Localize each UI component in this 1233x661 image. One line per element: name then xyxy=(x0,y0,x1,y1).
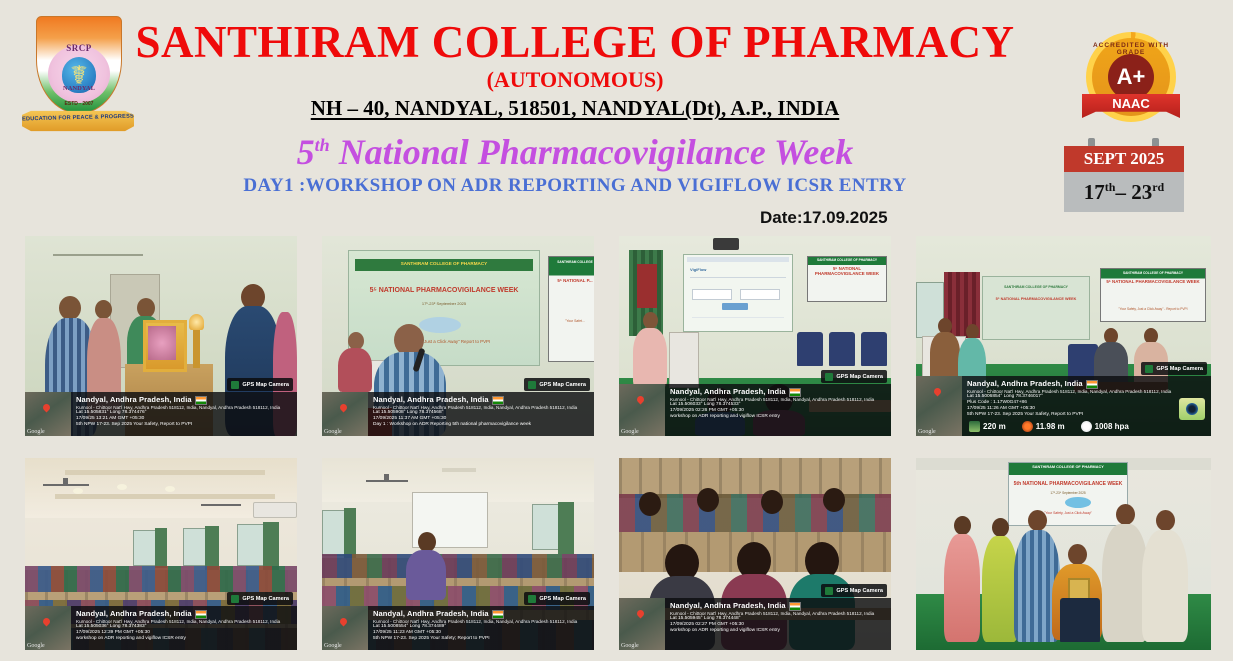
gps-place: Nandyal, Andhra Pradesh, India xyxy=(373,609,590,619)
india-flag-icon xyxy=(195,610,207,619)
photo-tile-lamp-lighting[interactable]: GPS Map Camera Nandyal, Andhra Pradesh, … xyxy=(25,236,297,436)
gps-address: Kurnool - Chittoor Nat'l Hwy, Andhra Pra… xyxy=(373,405,590,411)
autonomous-label: (AUTONOMOUS) xyxy=(135,66,1015,94)
gps-camera-icon xyxy=(825,373,833,381)
depth-icon xyxy=(1022,421,1033,432)
gps-map-thumbnail xyxy=(322,606,368,650)
metric-pressure: 1008 hpa xyxy=(1081,421,1129,432)
gps-place: Nandyal, Andhra Pradesh, India xyxy=(967,379,1207,389)
gps-map-thumbnail xyxy=(322,392,368,436)
gps-place: Nandyal, Andhra Pradesh, India xyxy=(670,601,887,611)
gps-address: Kurnool - Chittoor Nat'l Hwy, Andhra Pra… xyxy=(76,405,293,411)
pressure-icon xyxy=(1081,421,1092,432)
india-flag-icon xyxy=(492,396,504,405)
logo-bottom-text: NANDYAL xyxy=(37,85,121,92)
map-pin-icon xyxy=(42,403,52,413)
event-title: 5th National Pharmacovigilance Week xyxy=(135,124,1015,173)
map-pin-icon xyxy=(339,617,349,627)
altitude-icon xyxy=(969,421,980,432)
gps-map-thumbnail xyxy=(619,384,665,436)
gps-camera-label: GPS Map Camera xyxy=(242,382,289,388)
shield-icon: ☤ SRCP NANDYAL ESTD - 2007 xyxy=(36,16,122,114)
banner-tagline: "Your Safety, Just a Click Away" xyxy=(1009,511,1127,515)
gps-note: workshop on ADR reporting and vigiflow I… xyxy=(670,628,887,634)
event-date: Date:17.09.2025 xyxy=(760,208,888,228)
photo-tile-students-desks[interactable]: GPS Map Camera Nandyal, Andhra Pradesh, … xyxy=(619,458,891,650)
gps-map-thumbnail xyxy=(619,598,665,650)
photo-tile-speaker-podium[interactable]: SANTHIRAM COLLEGE OF PHARMACY 5⁵ NATIONA… xyxy=(322,236,594,436)
compass-icon xyxy=(1179,398,1205,420)
metric-altitude: 220 m xyxy=(969,421,1006,432)
gps-overlay: GPS Map Camera Nandyal, Andhra Pradesh, … xyxy=(322,606,594,650)
gps-camera-label: GPS Map Camera xyxy=(539,382,586,388)
gps-overlay: GPS Map Camera Nandyal, Andhra Pradesh, … xyxy=(25,392,297,436)
gps-address: Kurnool - Chittoor Nat'l Hwy, Andhra Pra… xyxy=(670,611,887,617)
gps-note: Day 1 : Workshop on ADR Reporting 5th na… xyxy=(373,422,590,428)
india-flag-icon xyxy=(195,396,207,405)
photo-tile-group-felicitation[interactable]: SANTHIRAM COLLEGE OF PHARMACY 5th NATION… xyxy=(916,458,1211,650)
gps-camera-icon xyxy=(528,595,536,603)
event-banner: SANTHIRAM COLLEGE OF PHARMACY 5th NATION… xyxy=(1008,462,1128,526)
gps-camera-chip: GPS Map Camera xyxy=(524,378,590,391)
calendar-days: 17th– 23rd xyxy=(1064,172,1184,212)
gps-camera-label: GPS Map Camera xyxy=(1156,366,1203,372)
gps-place: Nandyal, Andhra Pradesh, India xyxy=(76,609,293,619)
gps-note: workshop on ADR reporting and vigiflow I… xyxy=(670,414,887,420)
logo-ribbon: EDUCATION FOR PEACE & PROGRESS xyxy=(22,110,134,132)
calendar-badge: SEPT 2025 17th– 23rd xyxy=(1064,138,1184,212)
event-title-main: National Pharmacovigilance Week xyxy=(330,132,854,172)
logo-top-text: SRCP xyxy=(37,43,121,53)
photo-tile-audience-hall[interactable]: GPS Map Camera Nandyal, Andhra Pradesh, … xyxy=(25,458,297,650)
gps-note: 5th NPW 17-23. Sep 2025 Your Safety, Rep… xyxy=(76,422,293,428)
banner-title: SANTHIRAM COLLEGE OF PHARMACY xyxy=(1009,465,1127,469)
banner-event: 5th NATIONAL PHARMACOVIGILANCE WEEK xyxy=(1009,481,1127,487)
gps-place: Nandyal, Andhra Pradesh, India xyxy=(373,395,590,405)
event-title-sup: th xyxy=(315,135,330,155)
gps-map-thumbnail xyxy=(25,392,71,436)
gps-address: Kurnool - Chittoor Nat'l Hwy, Andhra Pra… xyxy=(76,619,293,625)
gps-camera-label: GPS Map Camera xyxy=(836,374,883,380)
gps-place: Nandyal, Andhra Pradesh, India xyxy=(76,395,293,405)
gps-overlay: GPS Map Camera Nandyal, Andhra Pradesh, … xyxy=(25,606,297,650)
gps-camera-chip: GPS Map Camera xyxy=(524,592,590,605)
calendar-month: SEPT 2025 xyxy=(1064,146,1184,172)
photo-grid: GPS Map Camera Nandyal, Andhra Pradesh, … xyxy=(25,236,1211,650)
photo-tile-classroom-session[interactable]: GPS Map Camera Nandyal, Andhra Pradesh, … xyxy=(322,458,594,650)
day-line: DAY1 :WORKSHOP ON ADR REPORTING AND VIGI… xyxy=(135,174,1015,198)
title-block: SANTHIRAM COLLEGE OF PHARMACY (AUTONOMOU… xyxy=(135,16,1015,198)
metric-depth: 11.98 m xyxy=(1022,421,1065,432)
map-pin-icon xyxy=(42,617,52,627)
gps-camera-label: GPS Map Camera xyxy=(836,588,883,594)
gps-address: Kurnool - Chittoor Nat'l Hwy, Andhra Pra… xyxy=(373,619,590,625)
gps-note: 5th NPW 17-23. Sep 2025 Your Safety; Rep… xyxy=(373,636,590,642)
gps-camera-icon xyxy=(231,381,239,389)
logo-ribbon-text: EDUCATION FOR PEACE & PROGRESS xyxy=(22,114,134,123)
map-pin-icon xyxy=(339,403,349,413)
gps-camera-chip: GPS Map Camera xyxy=(821,370,887,383)
gps-camera-label: GPS Map Camera xyxy=(242,596,289,602)
gps-address: Kurnool - Chittoor Nat'l Hwy, Andhra Pra… xyxy=(670,397,887,403)
map-pin-icon xyxy=(636,395,646,405)
gps-note: workshop on ADR reporting and vigiflow I… xyxy=(76,636,293,642)
gps-map-thumbnail xyxy=(916,376,962,436)
college-address: NH – 40, NANDYAL, 518501, NANDYAL(Dt), A… xyxy=(135,95,1015,122)
gps-camera-chip: GPS Map Camera xyxy=(821,584,887,597)
event-title-prefix: 5 xyxy=(297,132,315,172)
gps-camera-chip: GPS Map Camera xyxy=(1141,362,1207,375)
gps-camera-icon xyxy=(528,381,536,389)
poster-header: ☤ SRCP NANDYAL ESTD - 2007 EDUCATION FOR… xyxy=(0,0,1233,232)
gps-camera-label: GPS Map Camera xyxy=(539,596,586,602)
gps-camera-chip: GPS Map Camera xyxy=(227,378,293,391)
gps-metrics: 220 m 11.98 m 1008 hpa xyxy=(967,418,1207,432)
gps-map-thumbnail xyxy=(25,606,71,650)
india-flag-icon xyxy=(789,602,801,611)
gps-overlay: GPS Map Camera Nandyal, Andhra Pradesh, … xyxy=(322,392,594,436)
poster-canvas: ☤ SRCP NANDYAL ESTD - 2007 EDUCATION FOR… xyxy=(0,0,1233,661)
india-flag-icon xyxy=(1086,380,1098,389)
logo-estd-text: ESTD - 2007 xyxy=(37,101,121,107)
gps-place: Nandyal, Andhra Pradesh, India xyxy=(670,387,887,397)
india-flag-icon xyxy=(789,388,801,397)
map-pin-icon xyxy=(636,609,646,619)
photo-tile-dais-session[interactable]: SANTHIRAM COLLEGE OF PHARMACY 5⁵ NATIONA… xyxy=(916,236,1211,436)
gps-overlay: GPS Map Camera Nandyal, Andhra Pradesh, … xyxy=(619,598,891,650)
gps-address: Kurnool - Chittoor Nat'l Hwy, Andhra Pra… xyxy=(967,389,1207,395)
photo-tile-vigiflow-demo[interactable]: VigiFlow SANTHIRAM COLLEGE OF PHARMACY 5… xyxy=(619,236,891,436)
college-logo: ☤ SRCP NANDYAL ESTD - 2007 EDUCATION FOR… xyxy=(22,14,134,136)
naac-badge: ACCREDITED WITH GRADE A+ NAAC xyxy=(1086,32,1176,122)
india-flag-icon xyxy=(492,610,504,619)
gps-camera-icon xyxy=(231,595,239,603)
gps-overlay: GPS Map Camera Nandyal, Andhra Pradesh, … xyxy=(619,384,891,436)
gps-camera-chip: GPS Map Camera xyxy=(227,592,293,605)
gps-camera-icon xyxy=(825,587,833,595)
gps-overlay: GPS Map Camera Nandyal, Andhra Pradesh, … xyxy=(916,376,1211,436)
college-name: SANTHIRAM COLLEGE OF PHARMACY xyxy=(135,16,1015,68)
map-pin-icon xyxy=(933,387,943,397)
photo-image: SANTHIRAM COLLEGE OF PHARMACY 5th NATION… xyxy=(916,458,1211,650)
gps-camera-icon xyxy=(1145,365,1153,373)
naac-grade: A+ xyxy=(1108,54,1154,100)
